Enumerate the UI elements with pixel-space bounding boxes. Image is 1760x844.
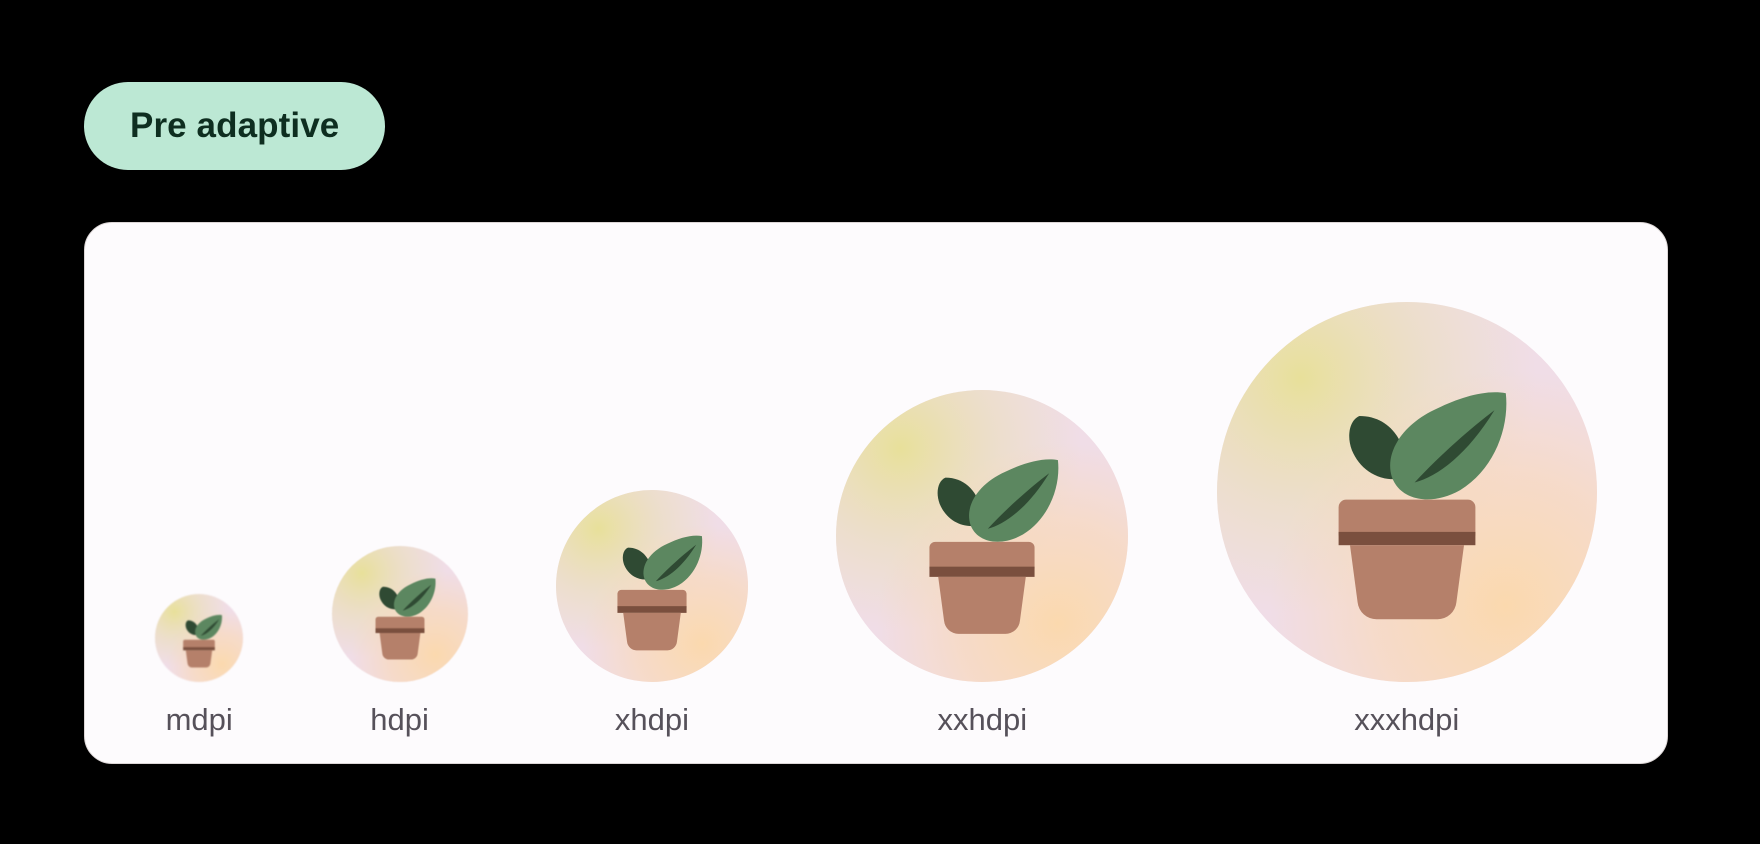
- status-badge-pre-adaptive: Pre adaptive: [84, 82, 385, 170]
- density-label: xxxhdpi: [1354, 704, 1459, 735]
- density-label: hdpi: [370, 704, 429, 735]
- density-item-xhdpi: xhdpi: [556, 490, 748, 735]
- status-badge-label: Pre adaptive: [130, 106, 339, 146]
- density-label: mdpi: [166, 704, 233, 735]
- density-label: xhdpi: [615, 704, 689, 735]
- density-item-xxhdpi: xxhdpi: [836, 390, 1128, 735]
- potted-plant-icon: [556, 490, 748, 682]
- density-showcase-card: mdpi: [84, 222, 1668, 764]
- potted-plant-icon: [332, 546, 468, 682]
- density-item-xxxhdpi: xxxhdpi: [1217, 302, 1597, 735]
- potted-plant-icon: [155, 594, 243, 682]
- potted-plant-icon: [1217, 302, 1597, 682]
- density-row: mdpi: [85, 223, 1667, 763]
- density-item-mdpi: mdpi: [155, 594, 243, 735]
- density-label: xxhdpi: [938, 704, 1028, 735]
- density-item-hdpi: hdpi: [332, 546, 468, 735]
- potted-plant-icon: [836, 390, 1128, 682]
